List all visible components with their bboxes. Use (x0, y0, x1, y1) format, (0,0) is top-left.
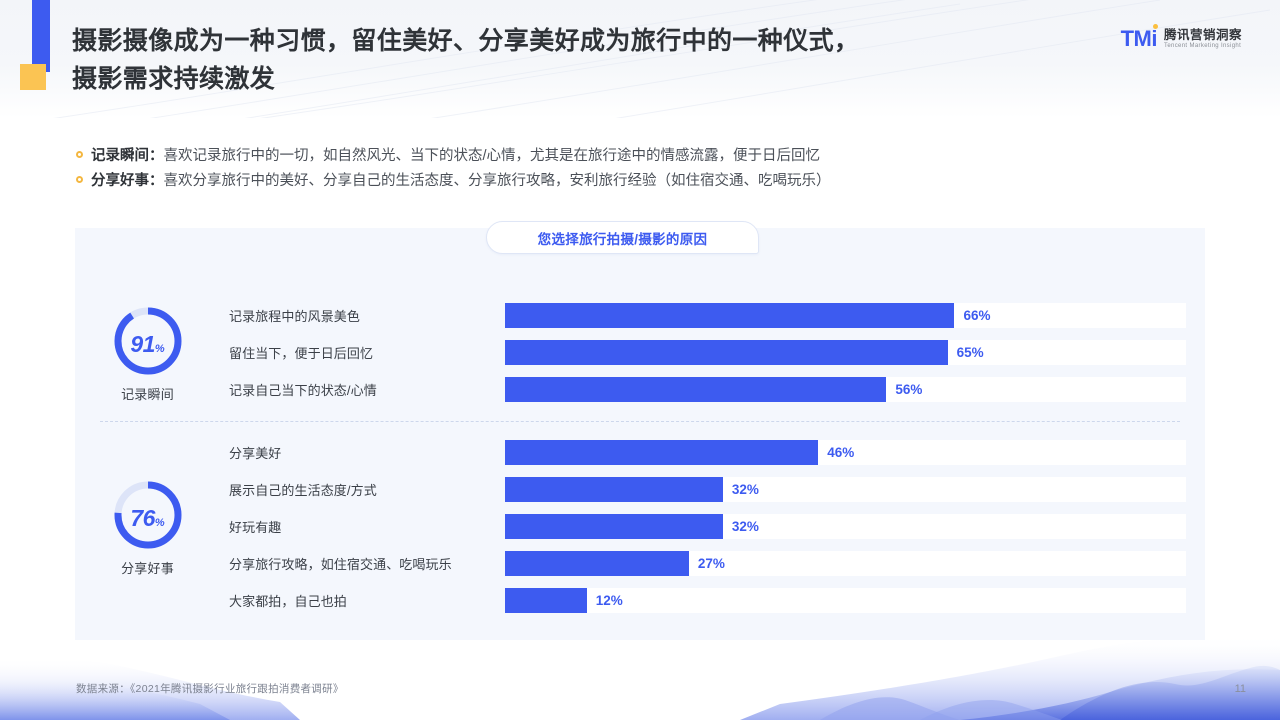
bar-track: 27% (505, 551, 1186, 576)
donut-number: 76 (130, 505, 155, 532)
bullet-item: 分享好事：喜欢分享旅行中的美好、分享自己的生活态度、分享旅行攻略，安利旅行经验（… (76, 169, 1226, 194)
bar-value-label: 27% (689, 551, 725, 576)
bar-row-label: 展示自己的生活态度/方式 (220, 480, 505, 499)
bar-track: 66% (505, 303, 1186, 328)
bar-row-label: 大家都拍，自己也拍 (220, 591, 505, 610)
bar-fill (505, 477, 723, 502)
donut-value: 91% (112, 305, 184, 377)
bar-value-label: 46% (818, 440, 854, 465)
donut-chart: 76% (112, 479, 184, 551)
donut-percent-sign: % (155, 343, 165, 355)
chart-panel: 91% 记录瞬间 记录旅程中的风景美色 66% 留住当下，便于日后回忆 (75, 228, 1205, 640)
data-source-note: 数据来源：《2021年腾讯摄影行业旅行跟拍消费者调研》 (76, 681, 344, 696)
logo-dot-icon (1153, 24, 1158, 29)
bullet-item: 记录瞬间：喜欢记录旅行中的一切，如自然风光、当下的状态/心情，尤其是在旅行途中的… (76, 144, 1226, 169)
donut-value: 76% (112, 479, 184, 551)
bar-row-label: 留住当下，便于日后回忆 (220, 343, 505, 362)
bar-fill (505, 588, 587, 613)
bar-value-label: 65% (948, 340, 984, 365)
bullet-lead: 分享好事： (91, 173, 164, 189)
bar-row: 分享美好 46% (220, 434, 1205, 471)
bar-track: 46% (505, 440, 1186, 465)
bar-fill (505, 377, 886, 402)
header-accent-bar (32, 0, 50, 72)
bullet-text: 分享好事：喜欢分享旅行中的美好、分享自己的生活态度、分享旅行攻略，安利旅行经验（… (91, 169, 831, 194)
slide-header: 摄影摄像成为一种习惯，留住美好、分享美好成为旅行中的一种仪式， 摄影需求持续激发… (0, 0, 1280, 118)
bar-track: 56% (505, 377, 1186, 402)
bar-rows-record: 记录旅程中的风景美色 66% 留住当下，便于日后回忆 65% 记录自己当下的状态… (220, 288, 1205, 416)
bar-row: 展示自己的生活态度/方式 32% (220, 471, 1205, 508)
bar-value-label: 32% (723, 514, 759, 539)
page-title-line-1: 摄影摄像成为一种习惯，留住美好、分享美好成为旅行中的一种仪式， (72, 22, 1072, 60)
logo-wordmark: 腾讯营销洞察 Tencent Marketing Insight (1164, 28, 1242, 50)
donut-share: 76% 分享好事 (75, 426, 220, 626)
donut-percent-sign: % (155, 517, 165, 529)
bullet-lead: 记录瞬间： (91, 148, 164, 164)
bar-fill (505, 551, 689, 576)
tmi-logo: TMi 腾讯营销洞察 Tencent Marketing Insight (1121, 28, 1242, 50)
donut-label: 记录瞬间 (121, 384, 174, 403)
donut-label: 分享好事 (121, 558, 174, 577)
page-title: 摄影摄像成为一种习惯，留住美好、分享美好成为旅行中的一种仪式， 摄影需求持续激发 (72, 22, 1072, 98)
bullet-text: 记录瞬间：喜欢记录旅行中的一切，如自然风光、当下的状态/心情，尤其是在旅行途中的… (91, 144, 820, 169)
page-number: 11 (1235, 683, 1246, 695)
bar-rows-share: 分享美好 46% 展示自己的生活态度/方式 32% 好玩有趣 (220, 426, 1205, 626)
bar-row: 分享旅行攻略，如住宿交通、吃喝玩乐 27% (220, 545, 1205, 582)
bar-track: 12% (505, 588, 1186, 613)
bar-row-label: 好玩有趣 (220, 517, 505, 536)
donut-record: 91% 记录瞬间 (75, 288, 220, 416)
bar-track: 32% (505, 477, 1186, 502)
bullet-list: 记录瞬间：喜欢记录旅行中的一切，如自然风光、当下的状态/心情，尤其是在旅行途中的… (76, 144, 1226, 194)
header-accent-square (20, 64, 46, 90)
bar-track: 65% (505, 340, 1186, 365)
bar-row: 记录旅程中的风景美色 66% (220, 297, 1205, 334)
bar-row-label: 记录旅程中的风景美色 (220, 306, 505, 325)
bar-fill (505, 303, 954, 328)
bar-value-label: 32% (723, 477, 759, 502)
bar-row: 记录自己当下的状态/心情 56% (220, 371, 1205, 408)
bullet-dot-icon (76, 151, 83, 158)
logo-mark-text: TMi (1121, 26, 1157, 51)
group-divider (100, 421, 1180, 422)
bar-row: 留住当下，便于日后回忆 65% (220, 334, 1205, 371)
bar-row: 大家都拍，自己也拍 12% (220, 582, 1205, 619)
slide: 摄影摄像成为一种习惯，留住美好、分享美好成为旅行中的一种仪式， 摄影需求持续激发… (0, 0, 1280, 720)
donut-chart: 91% (112, 305, 184, 377)
bullet-rest: 喜欢记录旅行中的一切，如自然风光、当下的状态/心情，尤其是在旅行途中的情感流露，… (164, 148, 821, 164)
bar-row-label: 分享旅行攻略，如住宿交通、吃喝玩乐 (220, 554, 505, 573)
donut-number: 91 (130, 331, 155, 358)
logo-chinese-name: 腾讯营销洞察 (1164, 28, 1242, 42)
bar-value-label: 56% (886, 377, 922, 402)
bar-row-label: 记录自己当下的状态/心情 (220, 380, 505, 399)
logo-mark: TMi (1121, 28, 1157, 50)
page-title-line-2: 摄影需求持续激发 (72, 60, 1072, 98)
bar-value-label: 66% (954, 303, 990, 328)
bullet-dot-icon (76, 176, 83, 183)
bar-track: 32% (505, 514, 1186, 539)
bullet-rest: 喜欢分享旅行中的美好、分享自己的生活态度、分享旅行攻略，安利旅行经验（如住宿交通… (164, 173, 831, 189)
bar-row: 好玩有趣 32% (220, 508, 1205, 545)
bar-value-label: 12% (587, 588, 623, 613)
chart-title-badge: 您选择旅行拍摄/摄影的原因 (486, 221, 759, 254)
chart-group-share: 76% 分享好事 分享美好 46% 展示自己的生活态度/方式 (75, 426, 1205, 626)
logo-english-name: Tencent Marketing Insight (1164, 42, 1242, 50)
bar-fill (505, 514, 723, 539)
bar-row-label: 分享美好 (220, 443, 505, 462)
chart-group-record: 91% 记录瞬间 记录旅程中的风景美色 66% 留住当下，便于日后回忆 (75, 288, 1205, 416)
mountain-decoration (0, 630, 1280, 720)
bar-fill (505, 340, 948, 365)
bar-fill (505, 440, 818, 465)
